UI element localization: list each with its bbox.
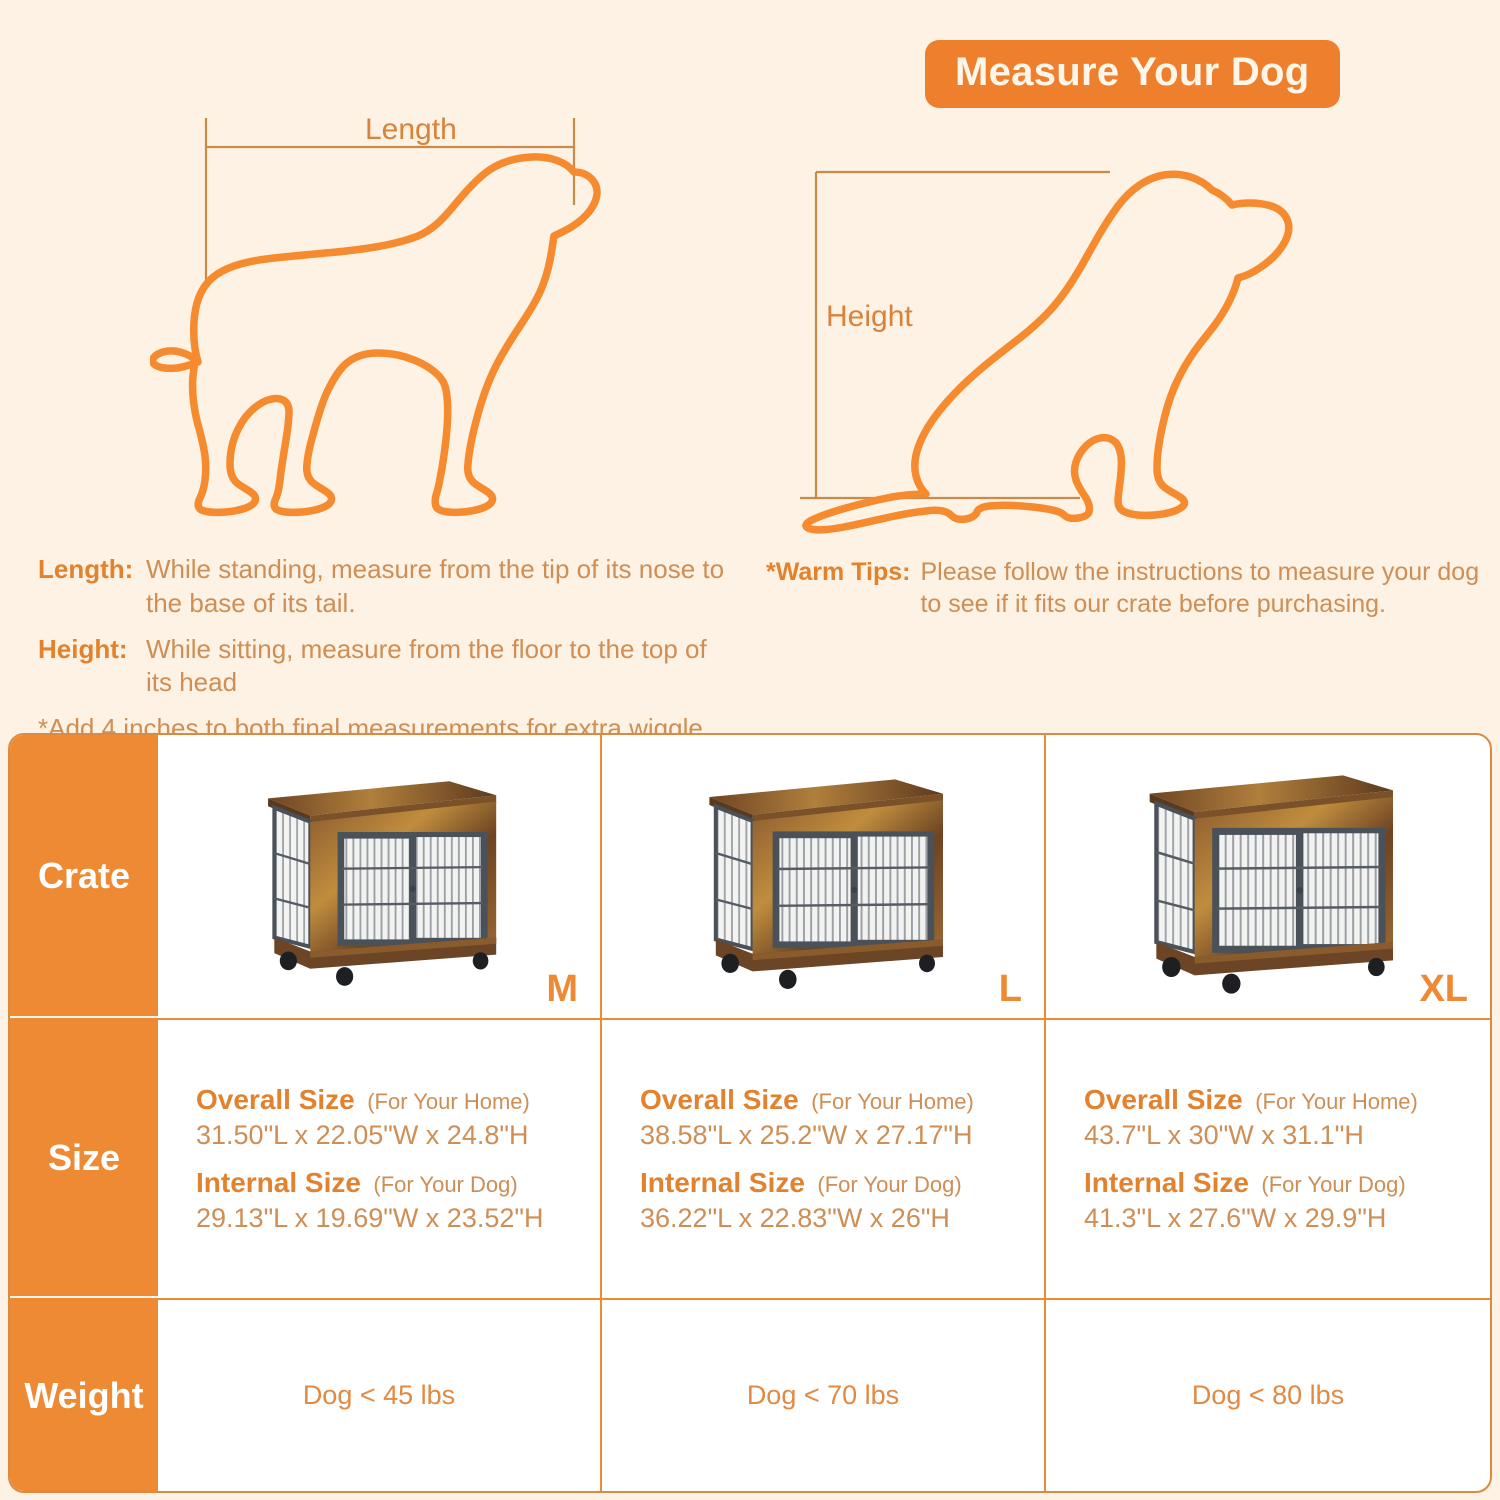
dog-crate-furniture-icon (254, 759, 504, 994)
weight-cell-l: Dog < 70 lbs (602, 1300, 1046, 1491)
internal-size-dims: 29.13"L x 19.69"W x 23.52"H (196, 1203, 584, 1234)
internal-size-dims: 41.3"L x 27.6"W x 29.9"H (1084, 1203, 1474, 1234)
weight-value: Dog < 70 lbs (747, 1380, 899, 1411)
dog-crate-furniture-icon (678, 757, 968, 997)
crate-cell-m: M (158, 735, 602, 1018)
overall-size-label: Overall Size (196, 1084, 355, 1115)
instruction-row: Length: While standing, measure from the… (38, 553, 738, 621)
internal-size-label: Internal Size (1084, 1167, 1249, 1198)
internal-size-sub: (For Your Dog) (373, 1172, 517, 1197)
size-badge-xl: XL (1419, 970, 1468, 1008)
size-cell-m: Overall Size (For Your Home) 31.50"L x 2… (158, 1020, 602, 1298)
weight-cell-xl: Dog < 80 lbs (1046, 1300, 1490, 1491)
row-label-crate: Crate (10, 735, 158, 1018)
instruction-key: Length: (38, 553, 146, 587)
overall-size-sub: (For Your Home) (811, 1089, 974, 1114)
internal-size-sub: (For Your Dog) (1261, 1172, 1405, 1197)
internal-size-label: Internal Size (640, 1167, 805, 1198)
size-cell-xl: Overall Size (For Your Home) 43.7"L x 30… (1046, 1020, 1490, 1298)
overall-size-dims: 38.58"L x 25.2"W x 27.17"H (640, 1120, 1028, 1151)
overall-size-sub: (For Your Home) (367, 1089, 530, 1114)
internal-size-label: Internal Size (196, 1167, 361, 1198)
height-measure-bracket (800, 172, 1110, 498)
standing-dog-figure (150, 100, 620, 520)
warm-tips-value: Please follow the instructions to measur… (920, 556, 1486, 620)
specification-table: Crate (8, 733, 1492, 1493)
overall-size-label: Overall Size (640, 1084, 799, 1115)
overall-size-dims: 43.7"L x 30"W x 31.1"H (1084, 1120, 1474, 1151)
standing-dog-outline (153, 157, 597, 512)
instruction-key: Height: (38, 633, 146, 667)
internal-size-sub: (For Your Dog) (817, 1172, 961, 1197)
instruction-value: While sitting, measure from the floor to… (146, 633, 738, 701)
weight-value: Dog < 80 lbs (1192, 1380, 1344, 1411)
measure-guide-section: Measure Your Dog Length Height (0, 0, 1500, 730)
weight-cell-m: Dog < 45 lbs (158, 1300, 602, 1491)
internal-size-dims: 36.22"L x 22.83"W x 26"H (640, 1203, 1028, 1234)
crate-cell-xl: XL (1046, 735, 1490, 1018)
sitting-dog-figure (780, 150, 1320, 540)
crate-cell-l: L (602, 735, 1046, 1018)
table-row-weight: Weight Dog < 45 lbs Dog < 70 lbs Dog < 8… (10, 1300, 1490, 1491)
size-cell-l: Overall Size (For Your Home) 38.58"L x 2… (602, 1020, 1046, 1298)
warm-tips-key: *Warm Tips: (766, 556, 920, 588)
row-label-weight: Weight (10, 1300, 158, 1491)
overall-size-label: Overall Size (1084, 1084, 1243, 1115)
size-badge-m: M (546, 970, 578, 1008)
overall-size-sub: (For Your Home) (1255, 1089, 1418, 1114)
table-row-size: Size Overall Size (For Your Home) 31.50"… (10, 1020, 1490, 1300)
page-title-badge: Measure Your Dog (925, 40, 1340, 108)
instruction-row: Height: While sitting, measure from the … (38, 633, 738, 701)
row-label-size: Size (10, 1020, 158, 1298)
overall-size-dims: 31.50"L x 22.05"W x 24.8"H (196, 1120, 584, 1151)
weight-value: Dog < 45 lbs (303, 1380, 455, 1411)
instruction-value: While standing, measure from the tip of … (146, 553, 738, 621)
size-badge-l: L (999, 970, 1022, 1008)
warm-tips-block: *Warm Tips: Please follow the instructio… (766, 556, 1486, 620)
height-label: Height (826, 300, 913, 334)
dog-crate-furniture-icon (1103, 752, 1433, 1002)
table-row-crate: Crate (10, 735, 1490, 1020)
sitting-dog-outline (806, 174, 1289, 530)
length-label: Length (365, 113, 457, 147)
